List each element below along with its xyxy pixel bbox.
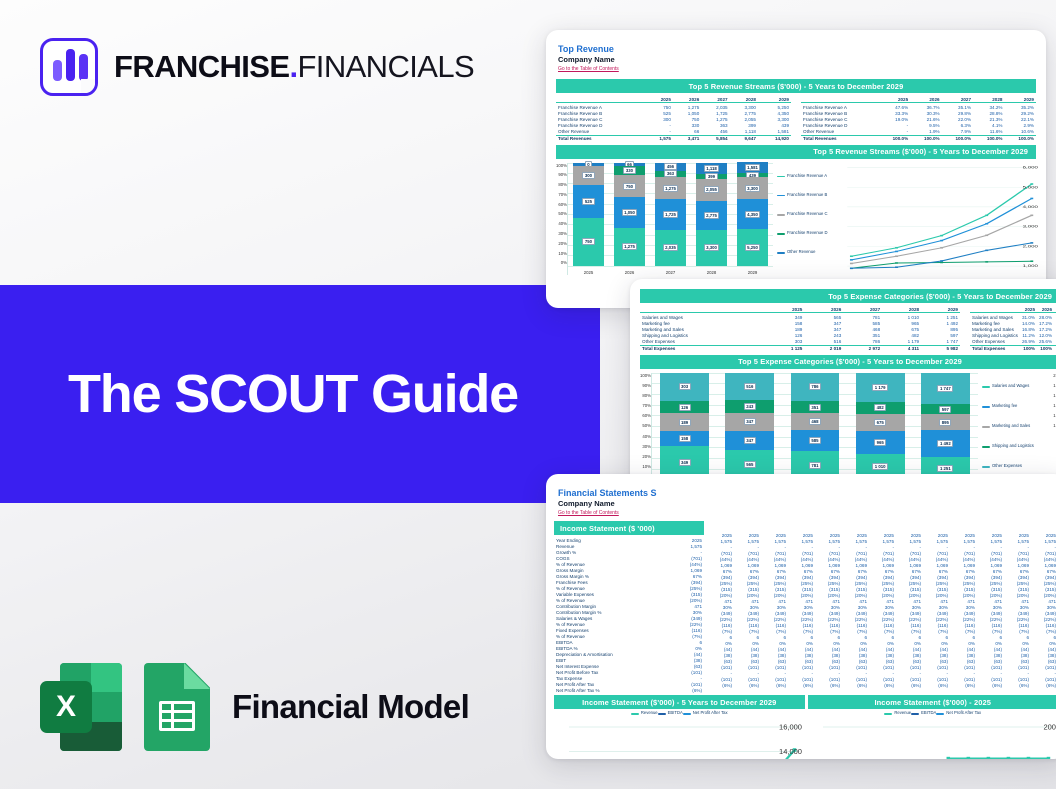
bar-value-label: 243 <box>744 403 756 410</box>
axis-tick: 90% <box>550 172 567 177</box>
col-header: 2025 <box>1020 306 1037 313</box>
axis-tick: 50% <box>634 423 651 428</box>
revenue-stacked-bar-chart[interactable]: 03005257502025663307501,0501,27520264563… <box>567 163 773 275</box>
bar-value-label: 1,581 <box>745 164 761 171</box>
legend-item: EBITDA <box>911 711 936 716</box>
axis-tick: 0% <box>550 260 567 265</box>
brand-name-bold: FRANCHISE <box>114 49 289 84</box>
file-type-label: Financial Model <box>232 688 469 726</box>
col-header: 2027 <box>942 96 973 103</box>
bar-segment[interactable]: 525 <box>573 185 604 218</box>
bar-chart-logo-icon <box>40 38 98 96</box>
axis-tick: 800 <box>1040 434 1056 439</box>
col-header: 2026 <box>804 306 843 313</box>
bar-value-label: 330 <box>623 167 635 174</box>
legend-label: Other Expenses <box>992 464 1022 469</box>
bar-segment[interactable]: 1 747 <box>921 373 970 404</box>
bar-column[interactable]: 4563631,2751,7252,0352027 <box>655 163 686 275</box>
legend-label: Revenue <box>894 711 911 716</box>
svg-text:14,000: 14,000 <box>779 747 802 756</box>
bar-segment[interactable]: 1,050 <box>614 197 645 228</box>
bar-segment[interactable]: 1,725 <box>655 199 686 229</box>
bar-value-label: 585 <box>809 437 821 444</box>
google-sheets-file-icon <box>144 663 210 751</box>
legend-label: Net Profit After Tax <box>946 711 981 716</box>
bar-value-label: 750 <box>582 238 594 245</box>
excel-letter: X <box>40 681 92 733</box>
bar-value-label: 1 010 <box>872 463 888 470</box>
legend-item: EBITDA <box>658 711 683 716</box>
axis-tick: 400 <box>1040 454 1056 459</box>
sheet-title: Top Revenue <box>558 44 1034 55</box>
axis-tick: 1 400 <box>1040 403 1056 408</box>
table-row: Net Profit After Tax %(6%) <box>554 687 704 693</box>
table-total-row: Total Expenses1 1252 0192 9724 3115 982 <box>640 345 960 352</box>
bar-value-label: 2,055 <box>704 186 720 193</box>
bar-segment[interactable]: 3,300 <box>737 177 768 200</box>
bar-segment[interactable]: 468 <box>791 413 840 430</box>
bar-column[interactable]: 5162433473475652026 <box>725 373 774 489</box>
legend-label: Marketing and Sales <box>992 424 1030 429</box>
bar-value-label: 1,050 <box>622 209 638 216</box>
bar-value-label: 675 <box>874 419 886 426</box>
bar-value-label: 525 <box>582 198 594 205</box>
axis-category-label: 2029 <box>737 270 768 275</box>
legend-item: Shipping and Logistics <box>982 444 1040 449</box>
svg-text:1,000: 1,000 <box>1023 264 1039 268</box>
bar-segment[interactable]: 351 <box>791 401 840 414</box>
svg-text:3,000: 3,000 <box>1023 225 1039 229</box>
bar-value-label: 2,035 <box>663 244 679 251</box>
bar-segment[interactable]: 347 <box>725 413 774 431</box>
axis-tick: 60% <box>550 202 567 207</box>
legend-label: Net Profit After Tax <box>693 711 728 716</box>
revenue-line-chart[interactable]: 6,0005,0004,0003,0002,0001,000 <box>835 163 1040 275</box>
col-header: 2026 <box>673 96 701 103</box>
fin-chart-band-2025: Income Statement ($'000) - 2025 <box>808 695 1056 709</box>
axis-tick: 30% <box>550 231 567 236</box>
bar-segment[interactable]: 786 <box>791 373 840 401</box>
svg-text:200: 200 <box>1043 722 1056 731</box>
axis-tick: 1 200 <box>1040 413 1056 418</box>
legend-label: Franchise Revenue D <box>787 231 828 236</box>
bar-value-label: 300 <box>582 172 594 179</box>
legend-label: Salaries and Wages <box>992 384 1029 389</box>
col-header: 2026 <box>1037 306 1054 313</box>
table-row: Shipping and Logistics11.2%12.0%11.8%11.… <box>970 333 1056 339</box>
bar-value-label: 1 492 <box>937 440 953 447</box>
bar-value-label: 1,275 <box>663 185 679 192</box>
bar-segment[interactable]: 2,775 <box>696 201 727 231</box>
bar-segment[interactable]: 895 <box>921 414 970 430</box>
legend-item: Franchise Revenue B <box>777 193 835 198</box>
axis-category-label: 2025 <box>573 270 604 275</box>
bar-value-label: 349 <box>679 459 691 466</box>
bar-value-label: 126 <box>679 404 691 411</box>
bar-segment[interactable]: 330 <box>614 166 645 176</box>
bar-segment[interactable]: 243 <box>725 400 774 413</box>
fin-legend-2025: RevenueEBITDANet Profit After Tax <box>808 710 1056 717</box>
revenue-chart-yaxis: 100%90%80%70%60%50%40%30%20%10%0% <box>550 163 567 275</box>
expenses-percent-table: 20252026202720282029Salaries and Wages31… <box>970 306 1056 352</box>
expenses-side-axis: 2 0001 8001 6001 4001 2001 0008006004002… <box>1040 373 1056 489</box>
sheet-company: Company Name <box>558 499 1054 509</box>
table-of-contents-link[interactable]: Go to the Table of Contents <box>558 509 1054 517</box>
bar-column[interactable]: 03005257502025 <box>573 163 604 275</box>
bar-value-label: 1,118 <box>704 165 720 172</box>
legend-item: Franchise Revenue C <box>777 212 835 217</box>
legend-item: Franchise Revenue D <box>777 231 835 236</box>
bar-segment[interactable]: 4,350 <box>737 199 768 229</box>
bar-segment[interactable]: 158 <box>660 431 709 446</box>
axis-category-label: 2027 <box>655 270 686 275</box>
bar-value-label: 189 <box>679 419 691 426</box>
bar-segment[interactable]: 516 <box>725 373 774 400</box>
bar-segment[interactable]: 126 <box>660 401 709 413</box>
axis-tick: 50% <box>550 211 567 216</box>
page-title: The SCOUT Guide <box>0 363 518 425</box>
bar-column[interactable]: 1 7475978951 4921 2512029 <box>921 373 970 489</box>
bar-segment[interactable]: 597 <box>921 404 970 415</box>
bar-segment[interactable]: 2,035 <box>655 230 686 266</box>
axis-category-label: 2026 <box>614 270 645 275</box>
legend-label: EBITDA <box>921 711 936 716</box>
bar-value-label: 468 <box>809 418 821 425</box>
axis-tick: 10% <box>550 251 567 256</box>
legend-item: Other Revenue <box>777 250 835 255</box>
bar-value-label: 1 251 <box>937 465 953 472</box>
bar-segment[interactable]: 189 <box>660 413 709 431</box>
bar-segment[interactable]: 750 <box>614 175 645 197</box>
col-header: 2025 <box>879 96 910 103</box>
axis-tick: 70% <box>634 403 651 408</box>
legend-item: Net Profit After Tax <box>683 711 728 716</box>
bar-column[interactable]: 1,5814393,3004,3505,2502029 <box>737 163 768 275</box>
bar-column[interactable]: 1,1183992,0552,7753,3002028 <box>696 163 727 275</box>
axis-tick: 20% <box>550 241 567 246</box>
legend-item: Revenue <box>631 711 658 716</box>
table-row: Marketing and Sales16.8%17.2%15.7%15.7%1… <box>970 327 1056 333</box>
legend-item: Revenue <box>884 711 911 716</box>
axis-tick: 1 600 <box>1040 393 1056 398</box>
legend-item: Other Expenses <box>982 464 1040 469</box>
excel-file-icon: X <box>40 663 122 751</box>
bar-value-label: 516 <box>744 383 756 390</box>
bar-value-label: 786 <box>809 383 821 390</box>
expenses-values-table: 20252026202720282029Salaries and Wages34… <box>640 306 960 352</box>
bar-segment[interactable]: 965 <box>856 431 905 455</box>
brand-logo: FRANCHISE.FINANCIALS <box>40 38 474 96</box>
revenue-chart-band: Top 5 Revenue Streams ($'000) - 5 Years … <box>556 145 1036 159</box>
bar-segment[interactable]: 1 492 <box>921 430 970 457</box>
expenses-chart-yaxis: 100%90%80%70%60%50%40%30%20%10%0% <box>634 373 651 489</box>
legend-item: Salaries and Wages <box>982 384 1040 389</box>
bar-segment[interactable]: 585 <box>791 430 840 451</box>
legend-label: Franchise Revenue A <box>787 174 827 179</box>
col-header: 2029 <box>1004 96 1036 103</box>
axis-tick: 600 <box>1040 444 1056 449</box>
fin-chart-band-5y: Income Statement ($'000) - 5 Years to De… <box>554 695 805 709</box>
bar-value-label: 1,725 <box>663 211 679 218</box>
income-statement-grid: 2025202520252025202520252025202520252025… <box>707 532 1056 688</box>
legend-label: Other Revenue <box>787 250 815 255</box>
bar-value-label: 1,275 <box>622 243 638 250</box>
col-header: 2025 <box>765 306 804 313</box>
bar-value-label: 482 <box>874 404 886 411</box>
bar-segment[interactable]: 2,055 <box>696 179 727 201</box>
revenue-percent-table: 20252026202720282029Franchise Revenue A4… <box>801 96 1036 142</box>
bar-value-label: 1 747 <box>937 385 953 392</box>
income-statement-band: Income Statement ($ '000) <box>554 521 704 535</box>
bar-value-label: 347 <box>744 437 756 444</box>
fin-line-chart-2025[interactable]: JanFebMarAprMayJunJulAugSepOctNovDec2001… <box>808 717 1056 759</box>
axis-tick: 20% <box>634 454 651 459</box>
bar-value-label: 781 <box>809 462 821 469</box>
axis-tick: 10% <box>634 464 651 469</box>
bar-value-label: 2,775 <box>704 212 720 219</box>
legend-label: Franchise Revenue C <box>787 212 828 217</box>
bar-segment[interactable]: 1 179 <box>856 373 905 402</box>
axis-category-label: 2028 <box>696 270 727 275</box>
bar-column[interactable]: 663307501,0501,2752026 <box>614 163 645 275</box>
svg-text:5,000: 5,000 <box>1023 185 1039 189</box>
bar-segment[interactable]: 300 <box>573 166 604 185</box>
axis-tick: 1 800 <box>1040 383 1056 388</box>
legend-label: Franchise Revenue B <box>787 193 827 198</box>
table-total-row: Total Revenues100.0%100.0%100.0%100.0%10… <box>801 135 1036 142</box>
legend-label: Shipping and Logistics <box>992 444 1034 449</box>
axis-tick: 30% <box>634 444 651 449</box>
bar-value-label: 303 <box>679 383 691 390</box>
col-header: 2029 <box>758 96 791 103</box>
legend-item: Net Profit After Tax <box>936 711 981 716</box>
axis-tick: 80% <box>550 182 567 187</box>
legend-item: Marketing and Sales <box>982 424 1040 429</box>
col-header: 2028 <box>973 96 1004 103</box>
brand-wordmark: FRANCHISE.FINANCIALS <box>114 49 474 85</box>
bar-value-label: 565 <box>744 461 756 468</box>
axis-tick: 100% <box>550 163 567 168</box>
axis-tick: 40% <box>550 221 567 226</box>
brand-name-light: FINANCIALS <box>297 49 474 84</box>
svg-text:2,000: 2,000 <box>1023 244 1039 248</box>
bar-segment[interactable]: 750 <box>573 218 604 265</box>
table-total-row: Total Revenues1,5753,4715,8549,64714,920 <box>556 135 791 142</box>
bar-column[interactable]: 1 1794826759651 0102028 <box>856 373 905 489</box>
bar-segment[interactable]: 303 <box>660 373 709 402</box>
sheet-company: Company Name <box>558 55 1034 65</box>
bar-value-label: 597 <box>939 406 951 413</box>
legend-label: EBITDA <box>668 711 683 716</box>
col-header: 2027 <box>701 96 729 103</box>
legend-item: Franchise Revenue A <box>777 174 835 179</box>
revenue-values-table: 20252026202720282029Franchise Revenue A7… <box>556 96 791 142</box>
expenses-chart-band: Top 5 Expense Categories ($'000) - 5 Yea… <box>640 355 1056 369</box>
fin-line-chart-5y[interactable]: 2025202620272028202916,00014,00012,00010… <box>554 717 805 759</box>
bar-segment[interactable]: 1,275 <box>614 228 645 265</box>
col-header: 2026 <box>910 96 941 103</box>
bar-value-label: 158 <box>679 435 691 442</box>
axis-tick: 80% <box>634 393 651 398</box>
col-header: 2027 <box>843 306 882 313</box>
bar-column[interactable]: 3031261891583492025 <box>660 373 709 489</box>
bar-value-label: 347 <box>744 418 756 425</box>
revenue-chart-legend: Franchise Revenue AFranchise Revenue BFr… <box>773 163 835 275</box>
expenses-table-band: Top 5 Expense Categories ($'000) - 5 Yea… <box>640 289 1056 303</box>
col-header: 2028 <box>730 96 758 103</box>
axis-tick: 60% <box>634 413 651 418</box>
table-total-row: Total Expenses100%100%100%100%100% <box>970 345 1056 352</box>
bar-value-label: 965 <box>874 439 886 446</box>
col-header: 2028 <box>882 306 921 313</box>
screenshot-financial-statements[interactable]: Financial Statements S Company Name Go t… <box>546 474 1056 759</box>
axis-tick: 70% <box>550 192 567 197</box>
bar-column[interactable]: 7863514685857812027 <box>791 373 840 489</box>
bar-value-label: 4,350 <box>745 211 761 218</box>
axis-tick: 90% <box>634 383 651 388</box>
bar-value-label: 3,300 <box>745 185 761 192</box>
table-row: (6%)(6%)(6%)(6%)(6%)(6%)(6%)(6%)(6%)(6%)… <box>707 682 1056 688</box>
svg-text:16,000: 16,000 <box>779 722 802 731</box>
axis-tick: 200 <box>1040 464 1056 469</box>
legend-item: Marketing fee <box>982 404 1040 409</box>
svg-text:6,000: 6,000 <box>1023 165 1039 169</box>
bar-value-label: 351 <box>809 404 821 411</box>
file-type-row: X Financial Model <box>40 663 469 751</box>
revenue-table-band: Top 5 Revenue Streams ($'000) - 5 Years … <box>556 79 1036 93</box>
axis-tick: 100% <box>634 373 651 378</box>
bar-segment[interactable]: 482 <box>856 402 905 414</box>
bar-value-label: 895 <box>939 419 951 426</box>
legend-label: Revenue <box>641 711 658 716</box>
axis-tick: 2 000 <box>1040 373 1056 378</box>
screenshot-top-revenue[interactable]: Top Revenue Company Name Go to the Table… <box>546 30 1046 308</box>
expenses-chart-legend: Salaries and WagesMarketing feeMarketing… <box>978 373 1040 489</box>
sheet-title: Financial Statements S <box>558 488 1054 499</box>
income-statement-table: Year Ending2025Revenue1,575Growth %-COGS… <box>554 537 704 693</box>
bar-value-label: 750 <box>623 183 635 190</box>
svg-text:4,000: 4,000 <box>1023 205 1039 209</box>
bar-segment[interactable]: 347 <box>725 431 774 449</box>
table-of-contents-link[interactable]: Go to the Table of Contents <box>558 65 1034 73</box>
bar-segment[interactable]: 5,250 <box>737 229 768 265</box>
bar-segment[interactable]: 3,300 <box>696 230 727 265</box>
axis-tick: 1 000 <box>1040 423 1056 428</box>
axis-tick: 40% <box>634 434 651 439</box>
bar-segment[interactable]: 675 <box>856 414 905 431</box>
bar-value-label: 5,250 <box>745 244 761 251</box>
fin-legend-5y: RevenueEBITDANet Profit After Tax <box>554 710 805 717</box>
col-header: 2029 <box>921 306 960 313</box>
bar-value-label: 3,300 <box>704 244 720 251</box>
hero-title-band: The SCOUT Guide <box>0 285 600 503</box>
bar-value-label: 1 179 <box>872 384 888 391</box>
col-header: 2025 <box>645 96 673 103</box>
bar-value-label: 456 <box>664 163 676 170</box>
expenses-stacked-bar-chart[interactable]: 3031261891583492025516243347347565202678… <box>651 373 978 489</box>
legend-label: Marketing fee <box>992 404 1017 409</box>
bar-segment[interactable]: 1,275 <box>655 177 686 199</box>
